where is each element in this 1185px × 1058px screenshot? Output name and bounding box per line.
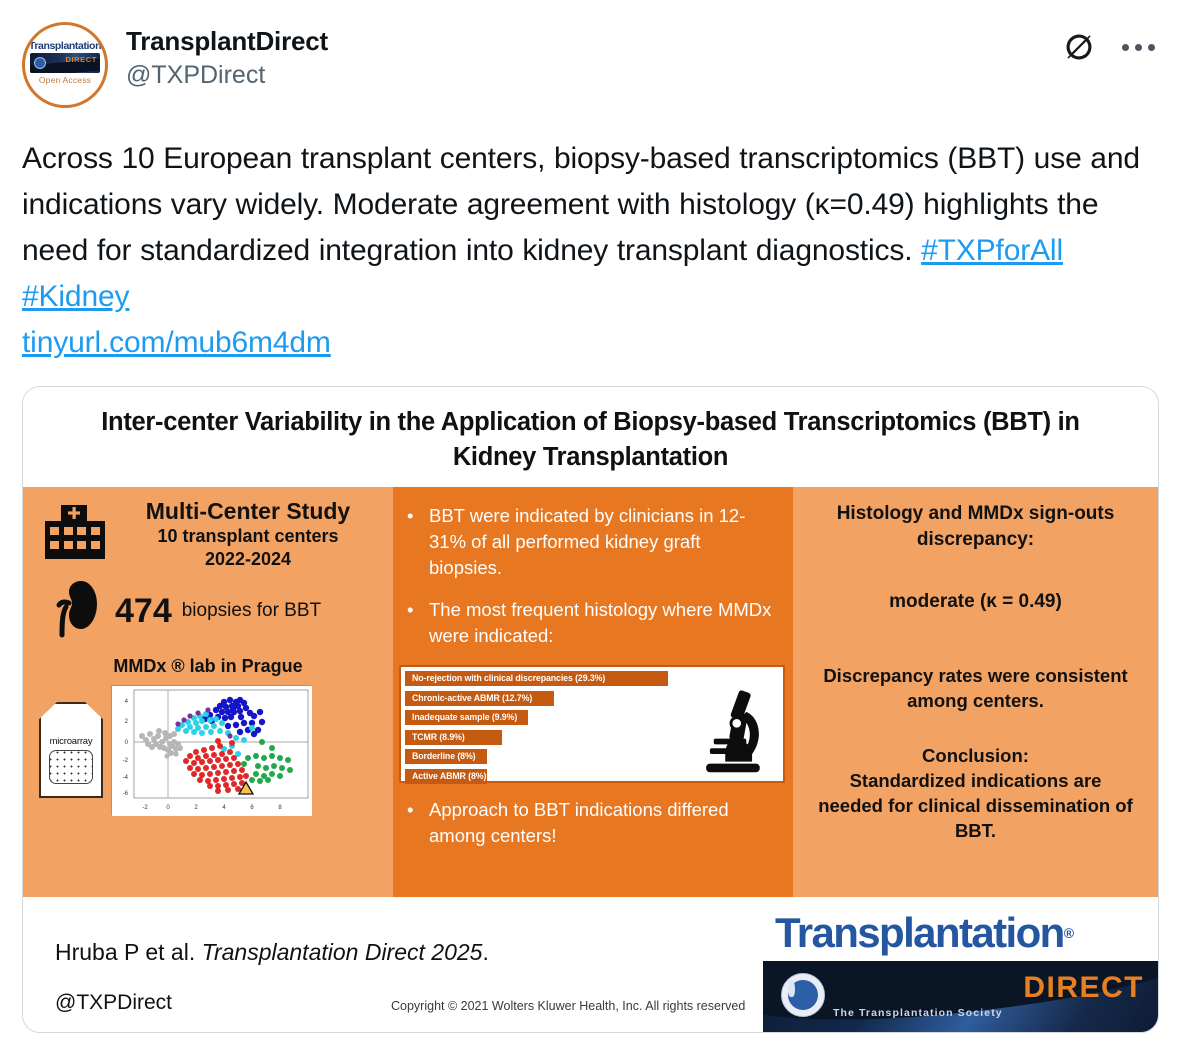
bullet-text: BBT were indicated by clinicians in 12-3…	[429, 503, 777, 581]
mmdx-lab-label: MMDx ® lab in Prague	[23, 656, 393, 677]
kidney-icon	[49, 577, 101, 644]
avatar[interactable]: Transplantation DIRECT Open Access	[22, 22, 108, 108]
microarray-row: microarray 4 2 0	[23, 677, 393, 815]
bar-row: Active ABMR (8%)	[405, 769, 487, 784]
conclusion-label: Conclusion:	[815, 743, 1136, 768]
discrepancy-consistency: Discrepancy rates were consistent among …	[793, 663, 1158, 713]
infographic-column-right: Histology and MMDx sign-outs discrepancy…	[793, 487, 1158, 897]
histology-bar-chart: No-rejection with clinical discrepancies…	[399, 665, 785, 783]
bullet-item: • Approach to BBT indications differed a…	[407, 797, 777, 849]
more-options-icon[interactable]	[1122, 44, 1155, 51]
svg-text:-4: -4	[123, 775, 129, 781]
society-seal-figure	[788, 980, 795, 997]
footer-handle: @TXPDirect	[55, 991, 172, 1015]
logo-registered-mark: ®	[1064, 911, 1073, 955]
citation-journal: Transplantation Direct 2025	[202, 939, 483, 965]
account-handle[interactable]: @TXPDirect	[126, 58, 328, 92]
tweet-header: Transplantation DIRECT Open Access Trans…	[22, 22, 1163, 114]
logo-top: Transplantation®	[763, 905, 1158, 961]
bullet-marker: •	[407, 797, 429, 849]
microarray-chip-label: microarray	[50, 736, 93, 747]
avatar-logo-direct: DIRECT	[65, 55, 97, 64]
logo-bottom: DIRECT The Transplantation Society	[763, 961, 1158, 1032]
middle-bullets-top: • BBT were indicated by clinicians in 12…	[393, 487, 793, 649]
grok-icon[interactable]	[1062, 30, 1096, 64]
avatar-logo-band: DIRECT	[30, 53, 100, 73]
infographic-column-left: Multi-Center Study 10 transplant centers…	[23, 487, 393, 897]
avatar-logo: Transplantation DIRECT Open Access	[29, 41, 101, 89]
logo-society-text: The Transplantation Society	[833, 1007, 1003, 1019]
display-name[interactable]: TransplantDirect	[126, 24, 328, 58]
avatar-logo-word: Transplantation	[29, 41, 101, 52]
transplantation-direct-logo: Transplantation® DIRECT The Transplantat…	[763, 905, 1158, 1032]
tweet-media-infographic[interactable]: Inter-center Variability in the Applicat…	[22, 386, 1159, 1033]
kappa-value: moderate (κ = 0.49)	[793, 589, 1158, 615]
infographic-footer: Hruba P et al. Transplantation Direct 20…	[23, 897, 1158, 1032]
bullet-marker: •	[407, 503, 429, 581]
multi-center-row: Multi-Center Study 10 transplant centers…	[23, 487, 393, 571]
society-seal-icon	[781, 973, 825, 1017]
tweet-card: Transplantation DIRECT Open Access Trans…	[0, 0, 1185, 1058]
bar-row: Chronic-active ABMR (12.7%)	[405, 691, 554, 706]
biopsy-count-row: 474 biopsies for BBT	[23, 571, 393, 644]
multi-center-heading-block: Multi-Center Study 10 transplant centers…	[113, 497, 393, 571]
bar-row: Inadequate sample (9.9%)	[405, 710, 528, 725]
account-names: TransplantDirect @TXPDirect	[126, 22, 328, 92]
hospital-icon	[43, 503, 107, 566]
logo-direct-word: DIRECT	[1023, 971, 1144, 1005]
society-seal-inner	[788, 980, 818, 1010]
svg-text:-2: -2	[142, 805, 148, 811]
scatter-plot-svg: 4 2 0 -2 -4 -6 -2 0 2 4 6 8	[112, 686, 312, 816]
bullet-item: • The most frequent histology where MMDx…	[407, 597, 777, 649]
footer-copyright: Copyright © 2021 Wolters Kluwer Health, …	[391, 999, 745, 1013]
infographic-title: Inter-center Variability in the Applicat…	[23, 387, 1158, 487]
biopsy-count-label: biopsies for BBT	[182, 599, 321, 623]
svg-text:-2: -2	[123, 758, 129, 764]
bar-row: No-rejection with clinical discrepancies…	[405, 671, 668, 686]
biopsy-count: 474	[115, 594, 172, 628]
avatar-logo-tagline: Open Access	[39, 75, 91, 85]
discrepancy-heading: Histology and MMDx sign-outs discrepancy…	[793, 501, 1158, 553]
microarray-chip-grid	[49, 750, 93, 784]
conclusion-block: Conclusion: Standardized indications are…	[793, 743, 1158, 843]
citation-end: .	[482, 939, 488, 965]
infographic-column-middle: • BBT were indicated by clinicians in 12…	[393, 487, 793, 897]
tweet-link[interactable]: tinyurl.com/mub6m4dm	[22, 326, 331, 359]
bullet-marker: •	[407, 597, 429, 649]
bullet-item: • BBT were indicated by clinicians in 12…	[407, 503, 777, 581]
bar-row: TCMR (8.9%)	[405, 730, 502, 745]
multi-center-title: Multi-Center Study	[113, 497, 383, 525]
bar-row: Borderline (8%)	[405, 749, 487, 764]
svg-text:-6: -6	[123, 791, 129, 797]
bullet-text: The most frequent histology where MMDx w…	[429, 597, 777, 649]
logo-word: Transplantation	[775, 911, 1064, 955]
conclusion-text: Standardized indications are needed for …	[815, 768, 1136, 843]
infographic-columns: Multi-Center Study 10 transplant centers…	[23, 487, 1158, 897]
citation-author: Hruba P et al.	[55, 939, 202, 965]
hashtag-kidney[interactable]: #Kidney	[22, 280, 129, 313]
multi-center-years: 2022-2024	[113, 548, 383, 571]
multi-center-centers: 10 transplant centers	[113, 525, 383, 548]
tweet-text: Across 10 European transplant centers, b…	[22, 136, 1163, 366]
header-actions	[1062, 22, 1163, 64]
avatar-logo-dot	[34, 57, 46, 69]
citation: Hruba P et al. Transplantation Direct 20…	[55, 939, 489, 966]
microscope-icon	[679, 667, 783, 781]
microarray-chip-icon: microarray	[39, 702, 103, 798]
middle-bullets-bottom: • Approach to BBT indications differed a…	[393, 783, 793, 849]
hashtag-txpforall[interactable]: #TXPforAll	[921, 234, 1063, 267]
bar-list: No-rejection with clinical discrepancies…	[401, 667, 679, 781]
scatter-plot: 4 2 0 -2 -4 -6 -2 0 2 4 6 8	[111, 685, 311, 815]
bullet-text: Approach to BBT indications differed amo…	[429, 797, 777, 849]
